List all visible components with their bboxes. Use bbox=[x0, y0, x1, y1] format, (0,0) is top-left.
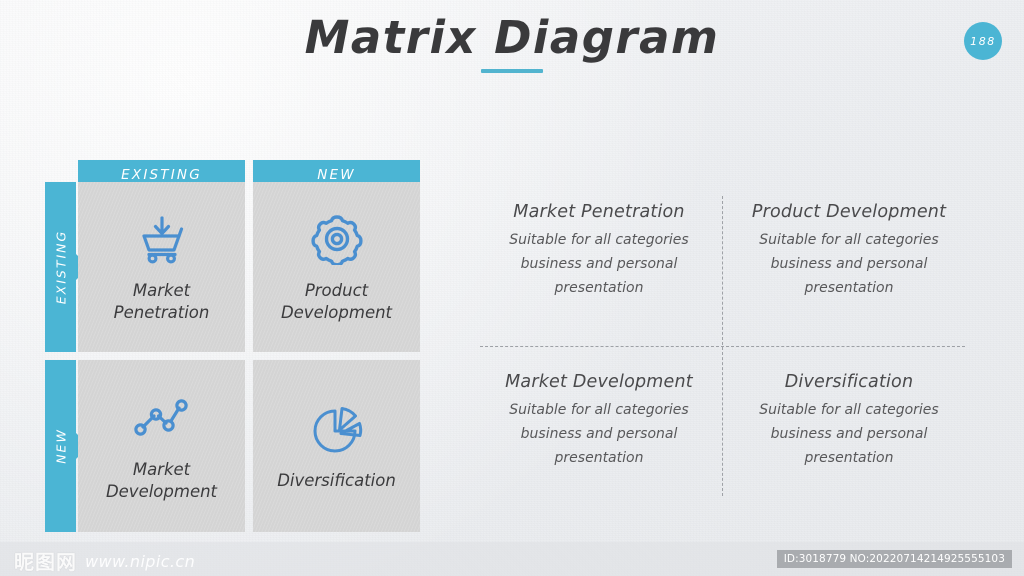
matrix-row-header-new-label: NEW bbox=[53, 428, 68, 464]
matrix-cell-market-penetration[interactable]: Market Penetration bbox=[78, 182, 245, 352]
description-product-development: Product Development Suitable for all cat… bbox=[738, 202, 960, 300]
description-diversification-body: Suitable for all categories business and… bbox=[742, 398, 956, 470]
matrix-row-header-existing-label: EXISTING bbox=[53, 230, 68, 304]
matrix-cell-diversification[interactable]: Diversification bbox=[253, 360, 420, 532]
description-diversification-title: Diversification bbox=[738, 372, 960, 392]
network-nodes-icon bbox=[133, 389, 191, 447]
description-market-development-title: Market Development bbox=[488, 372, 710, 392]
site-watermark: 昵图网 www.nipic.cn bbox=[14, 552, 195, 572]
description-market-penetration: Market Penetration Suitable for all cate… bbox=[488, 202, 710, 300]
matrix-row-header-new: NEW bbox=[45, 360, 76, 532]
title-underline bbox=[481, 69, 543, 73]
matrix-diagram: EXISTING NEW EXISTING NEW bbox=[45, 160, 420, 532]
description-panel: Market Penetration Suitable for all cate… bbox=[480, 196, 965, 496]
page-number-badge: 188 bbox=[964, 22, 1002, 60]
matrix-cell-market-development-label: Market Development bbox=[106, 459, 217, 503]
asset-id-label: ID:3018779 NO:20220714214925555103 bbox=[777, 550, 1012, 568]
matrix-cell-diversification-label: Diversification bbox=[277, 470, 396, 492]
description-market-development-body: Suitable for all categories business and… bbox=[501, 398, 697, 470]
description-market-development: Market Development Suitable for all cate… bbox=[488, 372, 710, 470]
site-watermark-logo: 昵图网 bbox=[14, 552, 77, 572]
description-diversification: Diversification Suitable for all categor… bbox=[738, 372, 960, 470]
matrix-cell-product-development-label: Product Development bbox=[281, 280, 392, 324]
description-product-development-body: Suitable for all categories business and… bbox=[742, 228, 956, 300]
slide-canvas: Matrix Diagram 188 EXISTING NEW EXISTING… bbox=[0, 0, 1024, 576]
panel-horizontal-divider bbox=[480, 346, 965, 347]
pie-chart-icon bbox=[310, 400, 364, 458]
description-product-development-title: Product Development bbox=[738, 202, 960, 222]
matrix-cell-product-development[interactable]: Product Development bbox=[253, 182, 420, 352]
site-watermark-url: www.nipic.cn bbox=[85, 554, 195, 570]
matrix-column-header-new-label: NEW bbox=[317, 167, 356, 183]
matrix-cell-market-penetration-label: Market Penetration bbox=[114, 280, 210, 324]
description-market-penetration-body: Suitable for all categories business and… bbox=[501, 228, 697, 300]
matrix-cell-market-development[interactable]: Market Development bbox=[78, 360, 245, 532]
page-number-badge-label: 188 bbox=[970, 35, 996, 48]
title-block: Matrix Diagram bbox=[0, 14, 1024, 73]
shopping-cart-download-icon bbox=[134, 210, 190, 268]
gear-icon bbox=[311, 210, 363, 268]
matrix-column-header-existing-label: EXISTING bbox=[121, 167, 202, 183]
description-market-penetration-title: Market Penetration bbox=[488, 202, 710, 222]
page-title: Matrix Diagram bbox=[0, 14, 1024, 61]
matrix-row-header-existing: EXISTING bbox=[45, 182, 76, 352]
